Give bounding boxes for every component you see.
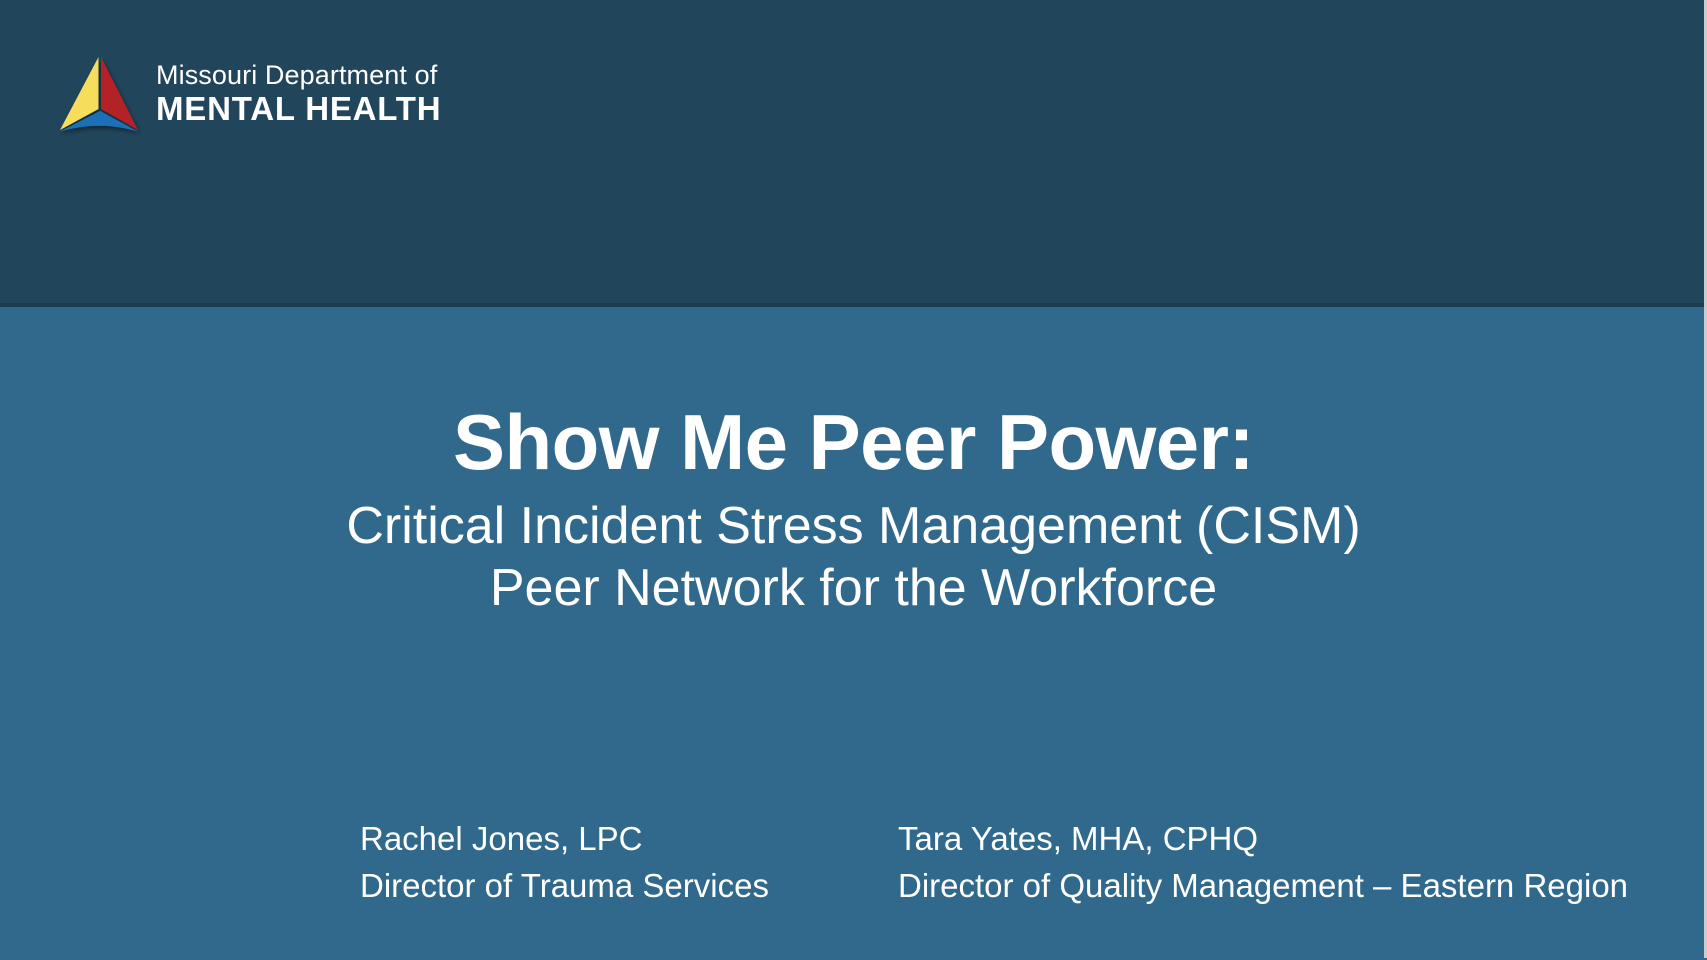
triangle-logo-icon [56,54,142,136]
logo-line-2: MENTAL HEALTH [156,92,441,125]
header-band [0,0,1707,305]
page-title: Show Me Peer Power: [0,400,1707,484]
logo-line-1: Missouri Department of [156,62,441,89]
logo-wordmark: Missouri Department of MENTAL HEALTH [156,62,441,125]
presenter-left: Rachel Jones, LPC Director of Trauma Ser… [360,818,769,908]
presenter-right-name: Tara Yates, MHA, CPHQ [898,818,1628,861]
page-subtitle-line-2: Peer Network for the Workforce [0,558,1707,619]
title-block: Show Me Peer Power: Critical Incident St… [0,400,1707,619]
presenter-left-role: Director of Trauma Services [360,865,769,908]
presenter-left-name: Rachel Jones, LPC [360,818,769,861]
presenter-right-role: Director of Quality Management – Eastern… [898,865,1628,908]
page-subtitle-line-1: Critical Incident Stress Management (CIS… [0,496,1707,557]
presentation-title-slide: Missouri Department of MENTAL HEALTH Sho… [0,0,1707,960]
organization-logo: Missouri Department of MENTAL HEALTH [56,52,441,136]
presenter-right: Tara Yates, MHA, CPHQ Director of Qualit… [898,818,1628,908]
